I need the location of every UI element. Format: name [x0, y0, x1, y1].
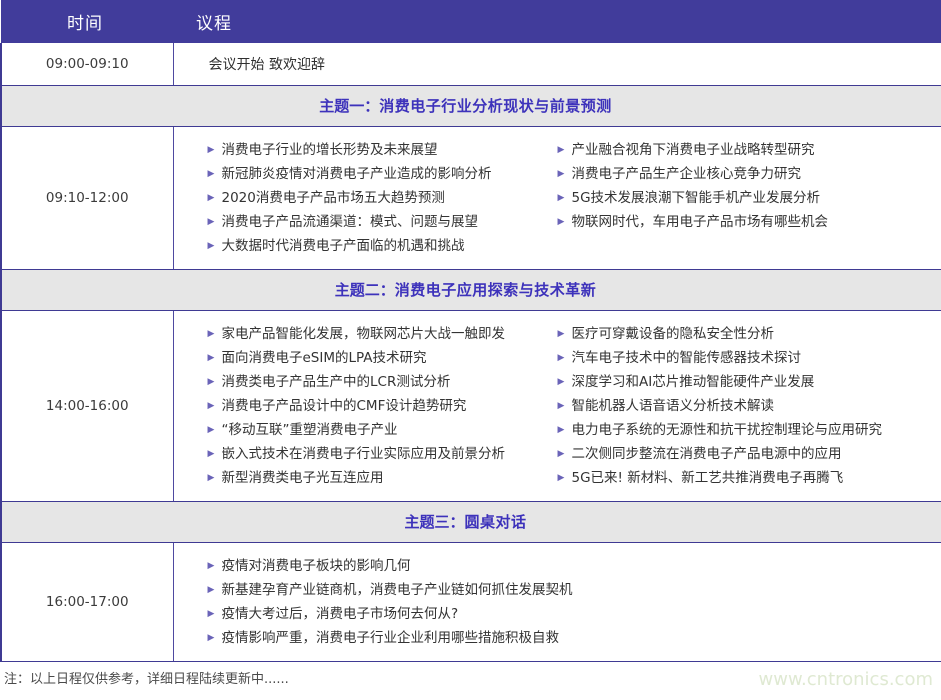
agenda-table: 时间 议程 09:00-09:10 会议开始 致欢迎辞 主题一：消费电子行业分析… [0, 0, 941, 662]
triangle-right-icon: ▶ [208, 370, 222, 394]
theme-title: 主题二：消费电子应用探索与技术革新 [335, 279, 597, 300]
triangle-right-icon: ▶ [558, 162, 572, 186]
agenda-page: 时间 议程 09:00-09:10 会议开始 致欢迎辞 主题一：消费电子行业分析… [0, 0, 941, 700]
list-item-label: 二次侧同步整流在消费电子产品电源中的应用 [572, 442, 842, 466]
list-item-label: 疫情影响严重，消费电子行业企业利用哪些措施积极自救 [222, 626, 560, 650]
list-item-label: 智能机器人语音语义分析技术解读 [572, 394, 775, 418]
list-item-label: 家电产品智能化发展，物联网芯片大战一触即发 [222, 322, 506, 346]
list-item-label: 消费电子行业的增长形势及未来展望 [222, 138, 438, 162]
agenda-column-right: ▶医疗可穿戴设备的隐私安全性分析 ▶汽车电子技术中的智能传感器技术探讨 ▶深度学… [546, 322, 906, 490]
footnote-text: 注：以上日程仅供参考，详细日程陆续更新中...... [4, 668, 289, 687]
table-row: 16:00-17:00 ▶疫情对消费电子板块的影响几何 ▶新基建孕育产业链商机，… [1, 542, 941, 661]
list-item-label: “移动互联”重塑消费电子产业 [222, 418, 398, 442]
table-header-row: 时间 议程 [1, 0, 941, 43]
triangle-right-icon: ▶ [208, 346, 222, 370]
triangle-right-icon: ▶ [208, 322, 222, 346]
agenda-column-right: ▶产业融合视角下消费电子业战略转型研究 ▶消费电子产品生产企业核心竞争力研究 ▶… [546, 138, 906, 258]
column-header-time: 时间 [1, 0, 173, 43]
list-item-label: 医疗可穿戴设备的隐私安全性分析 [572, 322, 775, 346]
triangle-right-icon: ▶ [208, 442, 222, 466]
list-item: ▶电力电子系统的无源性和抗干扰控制理论与应用研究 [558, 418, 906, 442]
list-item: ▶新型消费类电子光互连应用 [208, 466, 546, 490]
list-item-label: 汽车电子技术中的智能传感器技术探讨 [572, 346, 802, 370]
list-item: ▶面向消费电子eSIM的LPA技术研究 [208, 346, 546, 370]
list-item: ▶智能机器人语音语义分析技术解读 [558, 394, 906, 418]
theme-band: 主题三：圆桌对话 [1, 501, 941, 542]
triangle-right-icon: ▶ [208, 466, 222, 490]
list-item-label: 疫情大考过后，消费电子市场何去何从? [222, 602, 459, 626]
triangle-right-icon: ▶ [558, 322, 572, 346]
list-item: ▶家电产品智能化发展，物联网芯片大战一触即发 [208, 322, 546, 346]
agenda-column-left: ▶家电产品智能化发展，物联网芯片大战一触即发 ▶面向消费电子eSIM的LPA技术… [174, 322, 546, 490]
list-item-label: 大数据时代消费电子产面临的机遇和挑战 [222, 234, 465, 258]
triangle-right-icon: ▶ [208, 138, 222, 162]
list-item: ▶2020消费电子产品市场五大趋势预测 [208, 186, 546, 210]
list-item: ▶消费电子产品流通渠道：模式、问题与展望 [208, 210, 546, 234]
agenda-columns: ▶疫情对消费电子板块的影响几何 ▶新基建孕育产业链商机，消费电子产业链如何抓住发… [174, 543, 941, 661]
list-item: ▶二次侧同步整流在消费电子产品电源中的应用 [558, 442, 906, 466]
list-item-label: 2020消费电子产品市场五大趋势预测 [222, 186, 445, 210]
time-cell: 16:00-17:00 [1, 542, 173, 661]
agenda-column-left: ▶消费电子行业的增长形势及未来展望 ▶新冠肺炎疫情对消费电子产业造成的影响分析 … [174, 138, 546, 258]
agenda-cell: ▶消费电子行业的增长形势及未来展望 ▶新冠肺炎疫情对消费电子产业造成的影响分析 … [173, 126, 941, 269]
list-item-label: 新基建孕育产业链商机，消费电子产业链如何抓住发展契机 [222, 578, 573, 602]
triangle-right-icon: ▶ [558, 442, 572, 466]
triangle-right-icon: ▶ [208, 578, 222, 602]
list-item-label: 疫情对消费电子板块的影响几何 [222, 554, 411, 578]
agenda-columns: ▶家电产品智能化发展，物联网芯片大战一触即发 ▶面向消费电子eSIM的LPA技术… [174, 311, 941, 501]
theme-band-row: 主题一：消费电子行业分析现状与前景预测 [1, 85, 941, 126]
list-item-label: 消费电子产品流通渠道：模式、问题与展望 [222, 210, 479, 234]
theme-label: 主题三： [404, 513, 464, 531]
list-item: ▶汽车电子技术中的智能传感器技术探讨 [558, 346, 906, 370]
list-item: ▶消费电子行业的增长形势及未来展望 [208, 138, 546, 162]
list-item: ▶5G技术发展浪潮下智能手机产业发展分析 [558, 186, 906, 210]
list-item-label: 消费电子产品生产企业核心竞争力研究 [572, 162, 802, 186]
list-item-label: 新型消费类电子光互连应用 [222, 466, 384, 490]
time-cell: 09:00-09:10 [1, 43, 173, 85]
theme-name: 消费电子行业分析现状与前景预测 [379, 97, 612, 115]
list-item-label: 深度学习和AI芯片推动智能硬件产业发展 [572, 370, 815, 394]
list-item-label: 5G技术发展浪潮下智能手机产业发展分析 [572, 186, 821, 210]
theme-band-row: 主题三：圆桌对话 [1, 501, 941, 542]
list-item-label: 消费电子产品设计中的CMF设计趋势研究 [222, 394, 467, 418]
triangle-right-icon: ▶ [558, 138, 572, 162]
site-watermark: www.cntronics.com [759, 669, 933, 690]
list-item-label: 5G已来! 新材料、新工艺共推消费电子再腾飞 [572, 466, 844, 490]
triangle-right-icon: ▶ [558, 394, 572, 418]
triangle-right-icon: ▶ [558, 186, 572, 210]
list-item: ▶产业融合视角下消费电子业战略转型研究 [558, 138, 906, 162]
theme-label: 主题一： [319, 97, 379, 115]
theme-name: 消费电子应用探索与技术革新 [395, 281, 597, 299]
list-item-label: 产业融合视角下消费电子业战略转型研究 [572, 138, 815, 162]
theme-band: 主题一：消费电子行业分析现状与前景预测 [1, 85, 941, 126]
time-cell: 14:00-16:00 [1, 310, 173, 501]
triangle-right-icon: ▶ [208, 626, 222, 650]
time-cell: 09:10-12:00 [1, 126, 173, 269]
triangle-right-icon: ▶ [558, 346, 572, 370]
table-row: 14:00-16:00 ▶家电产品智能化发展，物联网芯片大战一触即发 ▶面向消费… [1, 310, 941, 501]
triangle-right-icon: ▶ [558, 466, 572, 490]
agenda-columns: ▶消费电子行业的增长形势及未来展望 ▶新冠肺炎疫情对消费电子产业造成的影响分析 … [174, 127, 941, 269]
list-item: ▶医疗可穿戴设备的隐私安全性分析 [558, 322, 906, 346]
triangle-right-icon: ▶ [208, 210, 222, 234]
list-item-label: 新冠肺炎疫情对消费电子产业造成的影响分析 [222, 162, 492, 186]
agenda-cell: ▶疫情对消费电子板块的影响几何 ▶新基建孕育产业链商机，消费电子产业链如何抓住发… [173, 542, 941, 661]
list-item-label: 面向消费电子eSIM的LPA技术研究 [222, 346, 427, 370]
agenda-column-left: ▶疫情对消费电子板块的影响几何 ▶新基建孕育产业链商机，消费电子产业链如何抓住发… [174, 554, 874, 650]
theme-name: 圆桌对话 [465, 513, 527, 531]
list-item: ▶疫情影响严重，消费电子行业企业利用哪些措施积极自救 [208, 626, 874, 650]
triangle-right-icon: ▶ [558, 210, 572, 234]
theme-band-row: 主题二：消费电子应用探索与技术革新 [1, 269, 941, 310]
list-item: ▶消费类电子产品生产中的LCR测试分析 [208, 370, 546, 394]
list-item-label: 消费类电子产品生产中的LCR测试分析 [222, 370, 451, 394]
triangle-right-icon: ▶ [558, 418, 572, 442]
agenda-cell: 会议开始 致欢迎辞 [173, 43, 941, 85]
list-item-label: 物联网时代，车用电子产品市场有哪些机会 [572, 210, 829, 234]
list-item: ▶消费电子产品设计中的CMF设计趋势研究 [208, 394, 546, 418]
triangle-right-icon: ▶ [208, 162, 222, 186]
theme-label: 主题二： [335, 281, 395, 299]
list-item: ▶新冠肺炎疫情对消费电子产业造成的影响分析 [208, 162, 546, 186]
triangle-right-icon: ▶ [208, 234, 222, 258]
list-item: ▶大数据时代消费电子产面临的机遇和挑战 [208, 234, 546, 258]
list-item: ▶5G已来! 新材料、新工艺共推消费电子再腾飞 [558, 466, 906, 490]
column-header-agenda: 议程 [173, 0, 941, 43]
list-item: ▶“移动互联”重塑消费电子产业 [208, 418, 546, 442]
list-item: ▶嵌入式技术在消费电子行业实际应用及前景分析 [208, 442, 546, 466]
theme-title: 主题一：消费电子行业分析现状与前景预测 [319, 95, 612, 116]
triangle-right-icon: ▶ [208, 418, 222, 442]
list-item: ▶消费电子产品生产企业核心竞争力研究 [558, 162, 906, 186]
list-item: ▶物联网时代，车用电子产品市场有哪些机会 [558, 210, 906, 234]
list-item: ▶疫情对消费电子板块的影响几何 [208, 554, 874, 578]
triangle-right-icon: ▶ [558, 370, 572, 394]
agenda-item-text: 会议开始 致欢迎辞 [174, 54, 941, 74]
triangle-right-icon: ▶ [208, 186, 222, 210]
list-item: ▶新基建孕育产业链商机，消费电子产业链如何抓住发展契机 [208, 578, 874, 602]
triangle-right-icon: ▶ [208, 554, 222, 578]
theme-title: 主题三：圆桌对话 [404, 511, 526, 532]
list-item-label: 嵌入式技术在消费电子行业实际应用及前景分析 [222, 442, 506, 466]
list-item: ▶深度学习和AI芯片推动智能硬件产业发展 [558, 370, 906, 394]
theme-band: 主题二：消费电子应用探索与技术革新 [1, 269, 941, 310]
triangle-right-icon: ▶ [208, 394, 222, 418]
list-item-label: 电力电子系统的无源性和抗干扰控制理论与应用研究 [572, 418, 883, 442]
table-row: 09:00-09:10 会议开始 致欢迎辞 [1, 43, 941, 85]
agenda-cell: ▶家电产品智能化发展，物联网芯片大战一触即发 ▶面向消费电子eSIM的LPA技术… [173, 310, 941, 501]
list-item: ▶疫情大考过后，消费电子市场何去何从? [208, 602, 874, 626]
table-row: 09:10-12:00 ▶消费电子行业的增长形势及未来展望 ▶新冠肺炎疫情对消费… [1, 126, 941, 269]
triangle-right-icon: ▶ [208, 602, 222, 626]
footer: 注：以上日程仅供参考，详细日程陆续更新中...... www.cntronics… [0, 664, 941, 700]
